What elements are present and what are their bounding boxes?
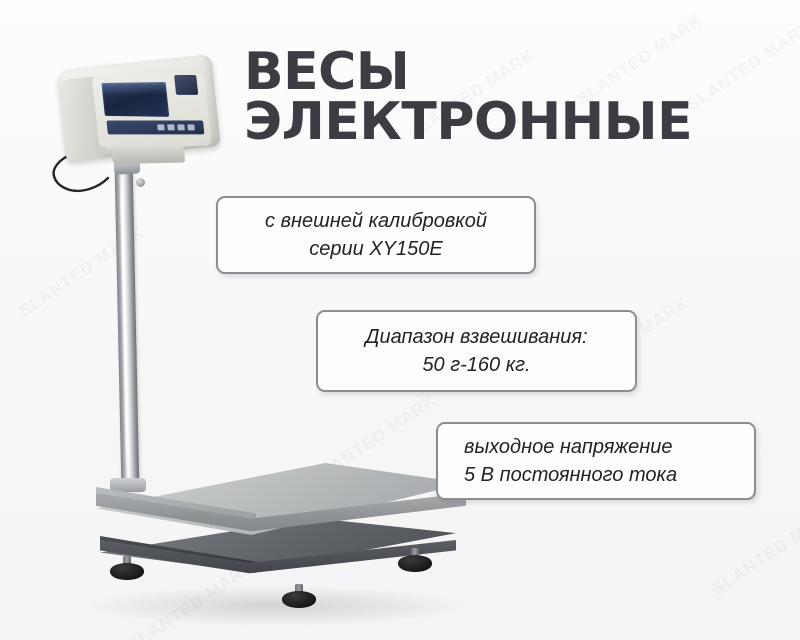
pole-mount-foot [110,478,146,492]
keypad-key [187,124,195,130]
page-title-line-2: ЭЛЕКТРОННЫЕ [244,98,789,148]
callout-calibration-line-2: серии XY150E [230,235,522,263]
callout-weighing-range-line-1: Диапазон взвешивания: [330,323,623,351]
foot-pad [110,563,144,580]
display-head [57,54,222,175]
base-shadow [86,586,466,626]
callout-output-voltage: выходное напряжение 5 В постоянного тока [436,422,756,500]
callout-output-voltage-line-1: выходное напряжение [464,433,754,461]
keypad-key [177,124,185,130]
keypad [106,120,204,134]
keypad-key [157,124,165,130]
watermark: SLANTED MARK [709,500,800,599]
pole-highlight [120,168,130,486]
lcd-screen [101,82,169,117]
callout-output-voltage-line-2: 5 В постоянного тока [464,461,754,489]
page-title-line-1: ВЕСЫ [244,48,789,98]
support-pole [115,162,140,492]
callout-weighing-range-line-2: 50 г-160 кг. [330,351,623,379]
callout-calibration: с внешней калибровкой серии XY150E [216,196,536,274]
pole-adjust-knob [136,178,145,187]
foot-pad [282,591,316,608]
adjustable-foot [398,548,432,572]
keypad-key [167,124,175,130]
lcd-glare [101,82,167,95]
adjustable-foot [282,584,316,608]
page-title: ВЕСЫ ЭЛЕКТРОННЫЕ [244,48,789,148]
product-poster: SLANTED MARK SLANTED MARK SLANTED MARK S… [0,0,800,640]
adjustable-foot [110,556,144,580]
callout-calibration-line-1: с внешней калибровкой [230,207,522,235]
callout-weighing-range: Диапазон взвешивания: 50 г-160 кг. [316,310,637,392]
foot-pad [398,555,432,572]
side-panel [174,75,198,95]
display-head-neck [111,145,185,164]
